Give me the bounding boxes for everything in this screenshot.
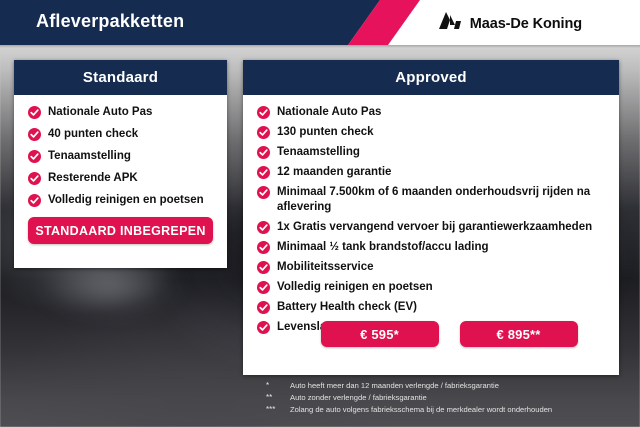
check-circle-icon: [257, 146, 270, 159]
feature-label: Minimaal 7.500km of 6 maanden onderhouds…: [277, 185, 609, 215]
check-circle-icon: [257, 186, 270, 199]
feature-label: Tenaamstelling: [48, 149, 131, 164]
price-button-895[interactable]: € 895**: [460, 321, 578, 347]
check-circle-icon: [257, 301, 270, 314]
check-circle-icon: [28, 194, 41, 207]
footnote-marker: **: [266, 392, 282, 403]
feature-list-standaard: Nationale Auto Pas 40 punten check Tenaa…: [14, 105, 227, 208]
list-item: Battery Health check (EV): [257, 300, 609, 315]
footnote-text: Zolang de auto volgens fabrieksschema bi…: [290, 404, 552, 415]
list-item: Volledig reinigen en poetsen: [257, 280, 609, 295]
brand-name: Maas-De Koning: [470, 16, 582, 32]
card-title-approved: Approved: [395, 69, 467, 86]
feature-label: Resterende APK: [48, 171, 138, 186]
price-button-595[interactable]: € 595*: [321, 321, 439, 347]
list-item: Mobiliteitsservice: [257, 260, 609, 275]
feature-label: Tenaamstelling: [277, 145, 360, 160]
check-circle-icon: [257, 106, 270, 119]
header-shadow: [0, 45, 640, 48]
card-body-approved: Nationale Auto Pas 130 punten check Tena…: [243, 95, 619, 335]
feature-label: 12 maanden garantie: [277, 165, 391, 180]
feature-label: Mobiliteitsservice: [277, 260, 374, 275]
list-item: 12 maanden garantie: [257, 165, 609, 180]
card-header-approved: Approved: [243, 60, 619, 95]
card-header-standaard: Standaard: [14, 60, 227, 95]
list-item: Tenaamstelling: [28, 149, 217, 164]
card-title-standaard: Standaard: [83, 69, 158, 86]
list-item: Tenaamstelling: [257, 145, 609, 160]
page-title: Afleverpakketten: [36, 11, 184, 32]
footnotes: * Auto heeft meer dan 12 maanden verleng…: [266, 380, 626, 416]
list-item: 130 punten check: [257, 125, 609, 140]
feature-label: Volledig reinigen en poetsen: [48, 193, 204, 208]
feature-label: Volledig reinigen en poetsen: [277, 280, 433, 295]
price-button-row: € 595* € 895**: [243, 321, 619, 347]
check-circle-icon: [28, 150, 41, 163]
maas-de-koning-m-icon: [439, 12, 463, 35]
footnote-marker: ***: [266, 404, 282, 415]
package-card-standaard: Standaard Nationale Auto Pas 40 punten c…: [14, 60, 227, 268]
list-item: Resterende APK: [28, 171, 217, 186]
feature-label: 40 punten check: [48, 127, 138, 142]
feature-list-approved: Nationale Auto Pas 130 punten check Tena…: [243, 105, 619, 335]
feature-label: 1x Gratis vervangend vervoer bij garanti…: [277, 220, 592, 235]
check-circle-icon: [28, 172, 41, 185]
check-circle-icon: [28, 106, 41, 119]
feature-label: Battery Health check (EV): [277, 300, 417, 315]
check-circle-icon: [28, 128, 41, 141]
list-item: Volledig reinigen en poetsen: [28, 193, 217, 208]
footnote-text: Auto zonder verlengde / fabrieksgarantie: [290, 392, 427, 403]
list-item: 40 punten check: [28, 127, 217, 142]
footnote-text: Auto heeft meer dan 12 maanden verlengde…: [290, 380, 499, 391]
list-item: Minimaal 7.500km of 6 maanden onderhouds…: [257, 185, 609, 215]
check-circle-icon: [257, 221, 270, 234]
footnote-row: * Auto heeft meer dan 12 maanden verleng…: [266, 380, 626, 391]
list-item: Nationale Auto Pas: [257, 105, 609, 120]
page-header: Afleverpakketten Maas-De Koning: [0, 0, 640, 45]
feature-label: Nationale Auto Pas: [48, 105, 152, 120]
package-card-approved: Approved Nationale Auto Pas 130 punten c…: [243, 60, 619, 375]
footnote-row: ** Auto zonder verlengde / fabrieksgaran…: [266, 392, 626, 403]
footnote-marker: *: [266, 380, 282, 391]
brand-logo: Maas-De Koning: [439, 12, 582, 35]
feature-label: Minimaal ½ tank brandstof/accu lading: [277, 240, 489, 255]
list-item: Minimaal ½ tank brandstof/accu lading: [257, 240, 609, 255]
check-circle-icon: [257, 261, 270, 274]
check-circle-icon: [257, 126, 270, 139]
list-item: 1x Gratis vervangend vervoer bij garanti…: [257, 220, 609, 235]
card-body-standaard: Nationale Auto Pas 40 punten check Tenaa…: [14, 95, 227, 208]
check-circle-icon: [257, 241, 270, 254]
check-circle-icon: [257, 166, 270, 179]
check-circle-icon: [257, 281, 270, 294]
feature-label: 130 punten check: [277, 125, 374, 140]
list-item: Nationale Auto Pas: [28, 105, 217, 120]
standaard-inbegrepen-button[interactable]: STANDAARD INBEGREPEN: [28, 217, 213, 244]
feature-label: Nationale Auto Pas: [277, 105, 381, 120]
afleverpakketten-page: Afleverpakketten Maas-De Koning Standaar…: [0, 0, 640, 427]
footnote-row: *** Zolang de auto volgens fabrieksschem…: [266, 404, 626, 415]
